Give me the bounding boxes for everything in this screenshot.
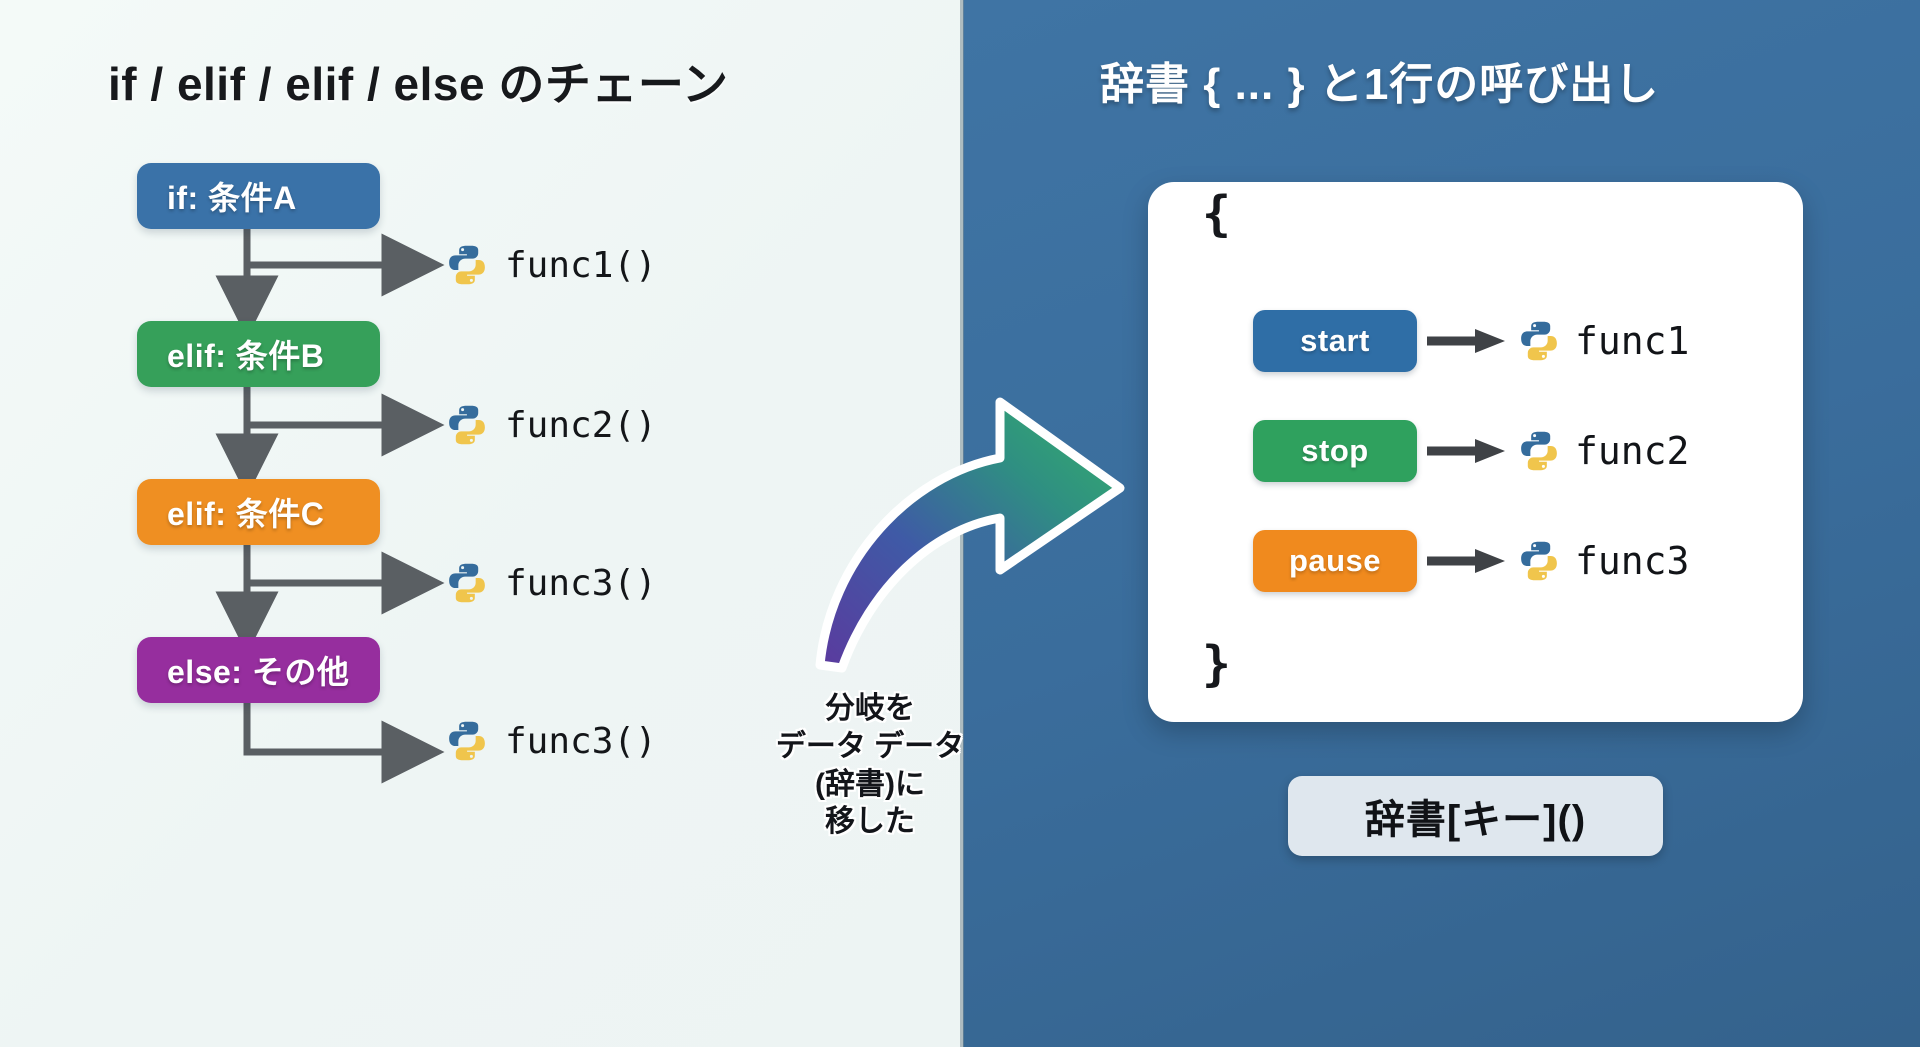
dict-value-func1-label: func1	[1575, 319, 1689, 363]
brace-open: {	[1202, 190, 1231, 238]
caption-line-4: 移した	[660, 803, 1080, 841]
dict-entry-start[interactable]: start func1	[1253, 310, 1689, 372]
call-func2: func2()	[445, 403, 657, 447]
python-icon	[445, 403, 489, 447]
call-func3-a: func3()	[445, 561, 657, 605]
call-func2-label: func2()	[505, 405, 657, 446]
call-func3-b: func3()	[445, 719, 657, 763]
node-elif-c-label: elif: 条件C	[167, 489, 324, 535]
node-else[interactable]: else: その他	[137, 637, 380, 703]
call-func3-b-label: func3()	[505, 721, 657, 762]
dict-value-func3: func3	[1517, 539, 1689, 583]
transition-caption: 分岐を データ データ (辞書)に 移した	[660, 690, 1080, 841]
caption-line-1: 分岐を	[660, 690, 1080, 728]
python-icon	[1517, 319, 1561, 363]
dict-key-stop: stop	[1253, 420, 1417, 482]
node-elif-c[interactable]: elif: 条件C	[137, 479, 380, 545]
node-if-label: if: 条件A	[167, 173, 297, 219]
dict-entry-stop[interactable]: stop func2	[1253, 420, 1689, 482]
call-func3-a-label: func3()	[505, 563, 657, 604]
right-arrow-icon	[1421, 546, 1513, 576]
dict-call-badge: 辞書[キー]()	[1288, 776, 1663, 856]
node-elif-b-label: elif: 条件B	[167, 331, 324, 377]
python-icon	[445, 719, 489, 763]
dict-value-func1: func1	[1517, 319, 1689, 363]
dict-key-pause: pause	[1253, 530, 1417, 592]
call-func1-label: func1()	[505, 245, 657, 286]
dict-key-start: start	[1253, 310, 1417, 372]
python-icon	[1517, 539, 1561, 583]
dict-entry-pause[interactable]: pause func3	[1253, 530, 1689, 592]
dict-value-func2: func2	[1517, 429, 1689, 473]
node-if[interactable]: if: 条件A	[137, 163, 380, 229]
dict-value-func3-label: func3	[1575, 539, 1689, 583]
python-icon	[445, 561, 489, 605]
right-panel-title: 辞書 { ... } と1行の呼び出し	[1100, 48, 1659, 112]
python-icon	[445, 243, 489, 287]
node-elif-b[interactable]: elif: 条件B	[137, 321, 380, 387]
caption-line-2: データ データ	[660, 728, 1080, 766]
node-else-label: else: その他	[167, 647, 349, 693]
right-arrow-icon	[1421, 326, 1513, 356]
curved-right-arrow-icon	[790, 380, 1150, 680]
dict-value-func2-label: func2	[1575, 429, 1689, 473]
call-func1: func1()	[445, 243, 657, 287]
caption-line-3: (辞書)に	[660, 766, 1080, 804]
python-icon	[1517, 429, 1561, 473]
diagram-canvas: if / elif / elif / else のチェーン if:	[0, 0, 1920, 1047]
right-arrow-icon	[1421, 436, 1513, 466]
brace-close: }	[1202, 640, 1231, 688]
